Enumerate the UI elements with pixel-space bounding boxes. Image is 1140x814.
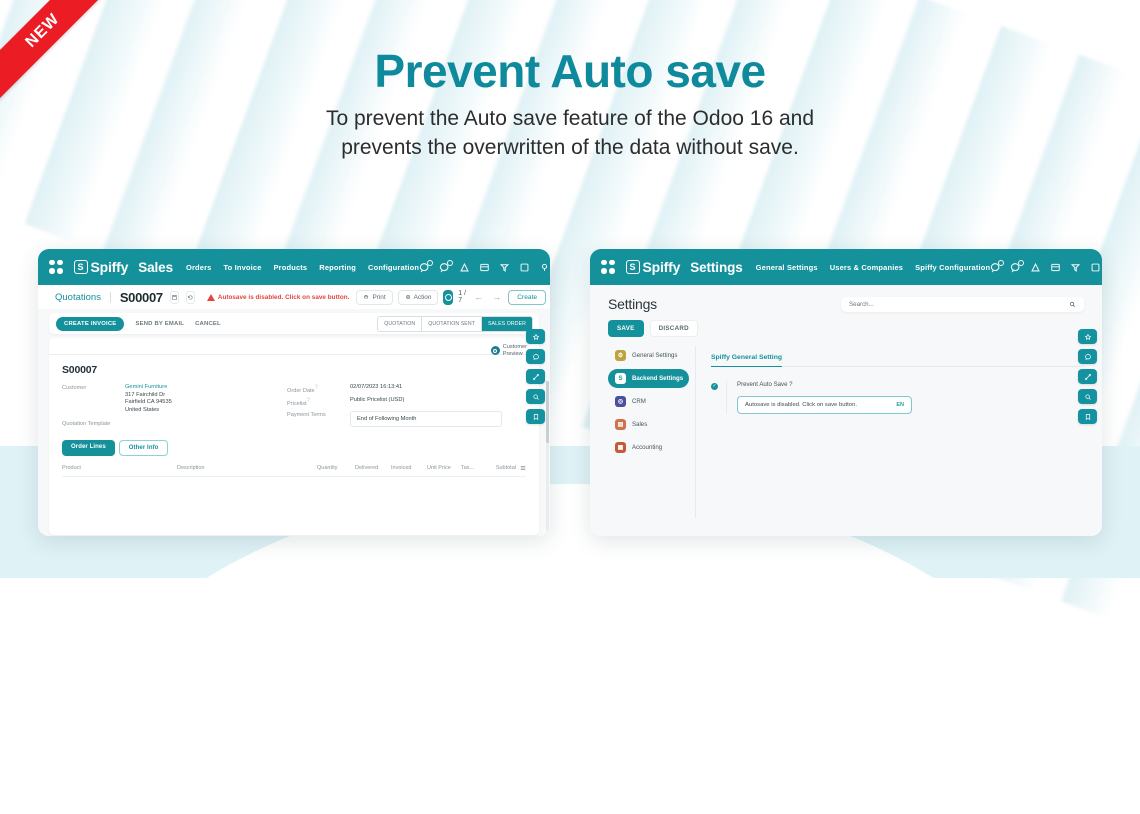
sidebar-item-backend-settings[interactable]: S Backend Settings [608,369,689,388]
spiffy-logo[interactable]: S Spiffy [74,259,129,275]
chat-bubble-icon[interactable] [439,262,450,273]
chat-icon[interactable] [526,349,545,364]
warning-triangle-icon [207,294,215,301]
megaphone-icon[interactable] [1070,262,1081,273]
payment-terms-row: Payment Terms End of Following Month [287,411,502,427]
sales-menu: Orders To Invoice Products Reporting Con… [186,263,419,272]
accounting-icon: ▦ [615,442,626,453]
sidebar-item-label: CRM [632,398,646,405]
apps-grid-icon[interactable] [601,260,615,275]
crm-icon: ◎ [615,396,626,407]
spiffy-mark-icon: S [626,260,640,274]
action-button[interactable]: Action [398,290,439,305]
pricelist-value[interactable]: Public Pricelist (USD) [350,397,404,407]
sales-statusbar: CREATE INVOICE SEND BY EMAIL CANCEL QUOT… [49,313,539,334]
stage-sales-order[interactable]: SALES ORDER [482,317,532,331]
navbar-systray [990,259,1102,276]
customer-preview-icon [491,346,500,355]
search-icon[interactable] [1078,389,1097,404]
pricelist-label: Pricelist [287,401,307,407]
apps-grid-icon[interactable] [49,260,63,275]
settings-side-tabs [1078,329,1097,424]
sidebar-item-crm[interactable]: ◎ CRM [608,392,689,411]
bug-icon[interactable] [1030,262,1041,273]
pager-next-button[interactable]: → [490,292,503,302]
expand-icon[interactable] [526,369,545,384]
breadcrumb-current: S00007 [120,290,163,305]
star-icon[interactable] [1078,329,1097,344]
settings-content: Spiffy General Setting ✓ Prevent Auto Sa… [695,346,1102,518]
menu-item-general-settings[interactable]: General Settings [756,263,818,272]
order-lines-header: Product Description Quantity Delivered I… [62,465,526,477]
settings-menu: General Settings Users & Companies Spiff… [756,263,991,272]
sales-screenshot-card: S Spiffy Sales Orders To Invoice Product… [38,249,550,536]
section-tab-spiffy-general-setting[interactable]: Spiffy General Setting [711,354,782,367]
save-button[interactable]: SAVE [608,320,644,337]
control-panel-actions: Print Action 1 / 7 ← → Create [356,290,546,305]
settings-actions: SAVE DISCARD [590,312,1102,337]
settings-sliders-icon[interactable] [520,465,526,471]
search-input[interactable] [849,301,1063,308]
spiffy-logo[interactable]: S Spiffy [626,259,681,275]
create-button[interactable]: Create [508,290,546,305]
sales-sheet-wrapper: CREATE INVOICE SEND BY EMAIL CANCEL QUOT… [38,309,550,536]
payment-terms-input[interactable]: End of Following Month [350,411,502,427]
grid-icon[interactable] [1050,262,1061,273]
page-title: Prevent Auto save [0,44,1140,98]
note-icon[interactable] [1090,262,1101,273]
menu-item-to-invoice[interactable]: To Invoice [223,263,261,272]
column-quantity: Quantity [317,465,355,471]
payment-terms-label: Payment Terms [287,411,350,427]
search-icon[interactable] [1069,301,1076,308]
column-subtotal: Subtotal [496,465,516,471]
bug-icon[interactable] [459,262,470,273]
menu-item-orders[interactable]: Orders [186,263,212,272]
stage-quotation-sent[interactable]: QUOTATION SENT [422,317,482,331]
column-tax: Tax... [461,465,491,471]
prevent-auto-save-setting: ✓ Prevent Auto Save ? Autosave is disabl… [711,381,1084,414]
customer-preview-button[interactable]: Customer Preview [491,344,527,357]
form-right-column: Order Date? 02/07/2023 16:13:41 Pricelis… [287,384,502,430]
settings-sidebar: ⚙ General Settings S Backend Settings ◎ … [590,346,695,518]
customer-address-line-3: United States [125,407,159,413]
column-unit-price: Unit Price [427,465,461,471]
save-cloud-icon[interactable] [170,291,179,304]
customer-field-row: Customer Gemini Furniture 317 Fairchild … [62,384,287,414]
column-invoiced: Invoiced [391,465,427,471]
create-invoice-button[interactable]: CREATE INVOICE [56,317,124,331]
sheet-divider [49,354,539,355]
grid-icon[interactable] [479,262,490,273]
pager-count: 1 / 7 [458,290,467,304]
sales-icon: ▤ [615,419,626,430]
autosave-warning-text: Autosave is disabled. Click on save butt… [218,294,350,301]
sheet-tabs: Order Lines Other Info [62,440,526,456]
customer-address-line-1: 317 Fairchild Dr [125,392,165,398]
page-subtitle: To prevent the Auto save feature of the … [0,104,1140,162]
column-description: Description [177,465,317,471]
menu-item-configuration[interactable]: Configuration [368,263,419,272]
send-by-email-button[interactable]: SEND BY EMAIL [135,321,184,327]
order-date-row: Order Date? 02/07/2023 16:13:41 [287,384,502,394]
settings-main: ⚙ General Settings S Backend Settings ◎ … [590,346,1102,518]
settings-body: Settings SAVE DISCARD ⚙ General Settings… [590,285,1102,536]
menu-item-spiffy-configuration[interactable]: Spiffy Configuration [915,263,990,272]
print-label: Print [372,294,385,301]
cancel-button[interactable]: CANCEL [195,321,221,327]
customer-label: Customer [62,384,125,414]
pricelist-row: Pricelist? Public Pricelist (USD) [287,397,502,407]
search-icon[interactable] [526,389,545,404]
expand-icon[interactable] [1078,369,1097,384]
app-name-label: Settings [690,260,742,275]
quotation-template-row: Quotation Template [62,420,287,427]
quotation-template-label: Quotation Template [62,420,110,427]
page-subtitle-line-1: To prevent the Auto save feature of the … [0,104,1140,133]
customer-address-line-2: Fairfield CA 94535 [125,399,172,405]
column-product: Product [62,465,177,471]
location-pin-icon[interactable] [539,262,550,273]
autosave-message-input[interactable]: Autosave is disabled. Click on save butt… [737,396,912,414]
discard-button[interactable]: DISCARD [650,320,698,337]
sidebar-item-label: Sales [632,421,647,428]
sidebar-item-accounting[interactable]: ▦ Accounting [608,438,689,457]
brand-label: Spiffy [643,259,681,275]
sidebar-item-label: Accounting [632,444,662,451]
chat-bubble-icon[interactable] [1010,262,1021,273]
settings-page-title: Settings [608,296,657,312]
customer-value[interactable]: Gemini Furniture [125,384,167,390]
settings-header: Settings [590,285,1102,312]
note-icon[interactable] [519,262,530,273]
menu-item-reporting[interactable]: Reporting [319,263,356,272]
bookmark-icon[interactable] [1078,409,1097,424]
sidebar-item-sales[interactable]: ▤ Sales [608,415,689,434]
settings-navbar: S Spiffy Settings General Settings Users… [590,249,1102,285]
menu-item-products[interactable]: Products [274,263,308,272]
bookmark-icon[interactable] [526,409,545,424]
app-name-label: Sales [138,260,173,275]
discard-undo-icon[interactable] [186,291,195,304]
sidebar-item-label: Backend Settings [632,375,683,382]
sales-side-tabs [526,329,545,424]
record-indicator-icon[interactable] [443,290,453,305]
sidebar-item-general-settings[interactable]: ⚙ General Settings [608,346,689,365]
tab-other-info[interactable]: Other Info [119,440,169,456]
customer-preview-line-2: Preview [503,351,523,357]
stage-quotation[interactable]: QUOTATION [378,317,422,331]
page-subtitle-line-2: prevents the overwritten of the data wit… [0,133,1140,162]
settings-screenshot-card: S Spiffy Settings General Settings Users… [590,249,1102,536]
brand-label: Spiffy [91,259,129,275]
message-bubble-icon[interactable] [419,262,430,273]
spiffy-icon: S [615,373,626,384]
column-delivered: Delivered [355,465,391,471]
breadcrumb-separator: | [109,291,112,303]
menu-item-users-companies[interactable]: Users & Companies [830,263,903,272]
breadcrumb-root[interactable]: Quotations [55,292,101,303]
navbar-systray [419,259,550,276]
sales-navbar: S Spiffy Sales Orders To Invoice Product… [38,249,550,285]
star-icon[interactable] [526,329,545,344]
message-bubble-icon[interactable] [990,262,1001,273]
sales-control-panel: Quotations | S00007 Autosave is disabled… [38,285,550,309]
tab-order-lines[interactable]: Order Lines [62,440,115,456]
form-left-column: Customer Gemini Furniture 317 Fairchild … [62,384,287,430]
status-stages: QUOTATION QUOTATION SENT SALES ORDER [377,316,533,332]
prevent-auto-save-label: Prevent Auto Save ? [737,381,1084,388]
action-label: Action [414,294,432,301]
chat-icon[interactable] [1078,349,1097,364]
megaphone-icon[interactable] [499,262,510,273]
order-reference: S00007 [62,364,526,376]
settings-search[interactable] [841,297,1084,312]
print-button[interactable]: Print [356,290,392,305]
autosave-message-value: Autosave is disabled. Click on save butt… [745,402,857,408]
order-date-label: Order Date [287,388,315,394]
gear-icon: ⚙ [615,350,626,361]
form-columns: Customer Gemini Furniture 317 Fairchild … [62,384,526,430]
spiffy-mark-icon: S [74,260,88,274]
order-date-value[interactable]: 02/07/2023 16:13:41 [350,384,402,394]
autosave-warning: Autosave is disabled. Click on save butt… [207,294,350,301]
language-badge[interactable]: EN [896,402,904,408]
vertical-scrollbar[interactable] [546,381,549,531]
sales-order-form: Customer Preview S00007 Customer Gemini … [49,338,539,535]
customer-preview-line-1: Customer [503,344,527,350]
prevent-auto-save-checkbox[interactable]: ✓ [711,383,718,390]
pager-prev-button[interactable]: ← [472,292,485,302]
sidebar-item-label: General Settings [632,352,677,359]
